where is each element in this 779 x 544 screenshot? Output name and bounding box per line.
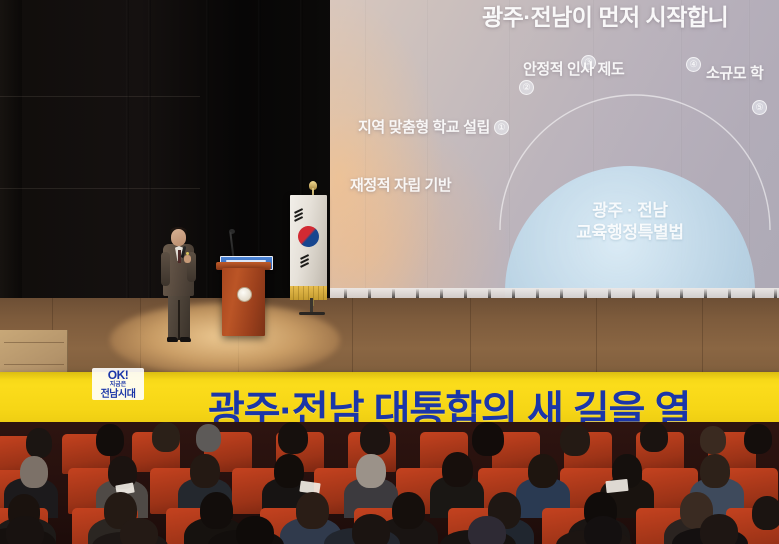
logo-ok-text: OK! [92,368,144,382]
speaker-left-arm [161,252,170,286]
slide-node-4: ④ [686,57,701,72]
audience-head [352,514,390,544]
audience-head [700,514,738,544]
audience-head [752,496,779,530]
audience-head [360,422,390,455]
audience-head [700,426,726,454]
podium-emblem-icon [237,287,252,302]
flag-stand-foot [299,312,325,315]
slide-label-2: 지역 맞춤형 학교 설립 [358,116,490,137]
logo-jeonnam-text: 전남시대 [92,389,144,400]
audience-head [744,424,772,454]
audience-head [6,516,44,544]
audience-head [152,422,180,452]
wall-seam [0,96,200,97]
audience-head [120,518,158,544]
wall-seam [0,188,200,189]
jeonnam-logo: OK! 지금은 전남시대 [92,368,144,400]
audience-head [200,492,233,529]
audience-head [528,454,558,488]
podium [222,268,265,336]
projection-screen: 광주·전남이 먼저 시작합니 광주 · 전남 교육행정특별법 ① ② ③ ④ ⑤… [330,0,779,300]
flag-fringe [290,286,327,300]
audience-head [278,422,308,454]
audience-head [468,516,506,544]
handout-paper [605,479,628,493]
audience-head [296,492,329,529]
audience-head [472,422,504,456]
auditorium-photo: 광주·전남이 먼저 시작합니 광주 · 전남 교육행정특별법 ① ② ③ ④ ⑤… [0,0,779,544]
audience-head [196,424,221,452]
lapel-badge-icon [186,252,189,255]
slide-label-1: 재정적 자립 기반 [350,174,451,195]
audience-head [20,456,48,488]
slide-label-3: 안정적 인사 제도 [523,58,624,79]
slide-node-1: ① [494,120,509,135]
audience-head [26,428,52,458]
speaker-hand [184,255,191,263]
audience-head [190,454,220,488]
audience-head [560,424,590,456]
speaker-head [171,229,186,246]
audience-head [442,452,473,487]
audience-head [392,492,425,529]
screen-surface: 광주·전남이 먼저 시작합니 광주 · 전남 교육행정특별법 ① ② ③ ④ ⑤… [330,0,779,300]
slide-node-5: ⑤ [752,100,767,115]
audience-head [584,516,622,544]
logo-sub-text: 지금은 [92,382,144,389]
slide-node-2: ② [519,80,534,95]
speaker-shoe [180,337,191,342]
speaker-shoe [167,337,178,342]
audience-head [96,424,124,456]
audience-area [0,422,779,544]
audience-head [356,454,386,488]
audience-head [640,422,668,452]
slide-label-4: 소규모 학 [706,62,763,83]
audience-head [700,454,730,488]
slide-arc [330,0,779,300]
audience-head [236,516,274,544]
